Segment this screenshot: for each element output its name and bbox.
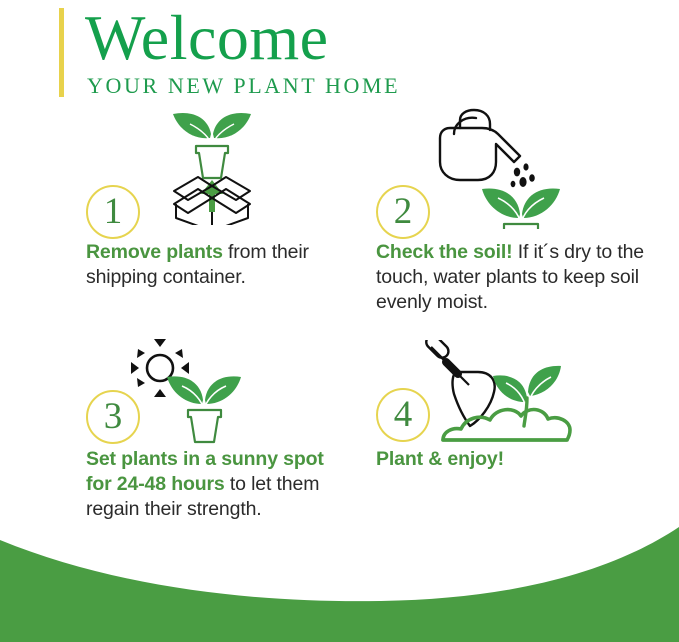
header-text-group: Welcome YOUR NEW PLANT HOME: [85, 6, 400, 98]
watering-can-plant-icon: [420, 104, 580, 234]
step-2: 2 Check the soil! If it´s dry to the tou…: [340, 100, 679, 330]
sun-and-plant-icon: [122, 338, 262, 453]
step-3-number: 3: [104, 398, 123, 435]
step-1-number: 1: [104, 193, 123, 230]
step-2-lead: Check the soil!: [376, 241, 512, 263]
step-4-lead: Plant & enjoy!: [376, 448, 504, 470]
step-2-number-badge: 2: [376, 185, 430, 239]
welcome-plant-care-card: Welcome YOUR NEW PLANT HOME: [0, 0, 679, 642]
plant-leaving-box-icon: [148, 100, 278, 230]
step-3-number-badge: 3: [86, 390, 140, 444]
page-subtitle: YOUR NEW PLANT HOME: [87, 74, 400, 98]
step-4-number: 4: [394, 396, 413, 433]
step-1-lead: Remove plants: [86, 241, 223, 263]
step-2-number: 2: [394, 193, 413, 230]
steps-grid: 1 Remove plants from their shipping cont…: [0, 100, 679, 570]
page-title: Welcome: [85, 6, 400, 70]
step-1-text: Remove plants from their shipping contai…: [86, 240, 336, 290]
step-4-text: Plant & enjoy!: [376, 447, 666, 472]
step-4-number-badge: 4: [376, 388, 430, 442]
footer-green-wave: [0, 527, 679, 642]
header: Welcome YOUR NEW PLANT HOME: [59, 6, 619, 101]
step-1-number-badge: 1: [86, 185, 140, 239]
step-2-text: Check the soil! If it´s dry to the touch…: [376, 240, 676, 315]
header-accent-rule: [59, 8, 64, 97]
step-1: 1 Remove plants from their shipping cont…: [0, 100, 340, 330]
trowel-and-sprout-icon: [420, 340, 595, 455]
step-3-text: Set plants in a sunny spot for 24-48 hou…: [86, 447, 336, 522]
